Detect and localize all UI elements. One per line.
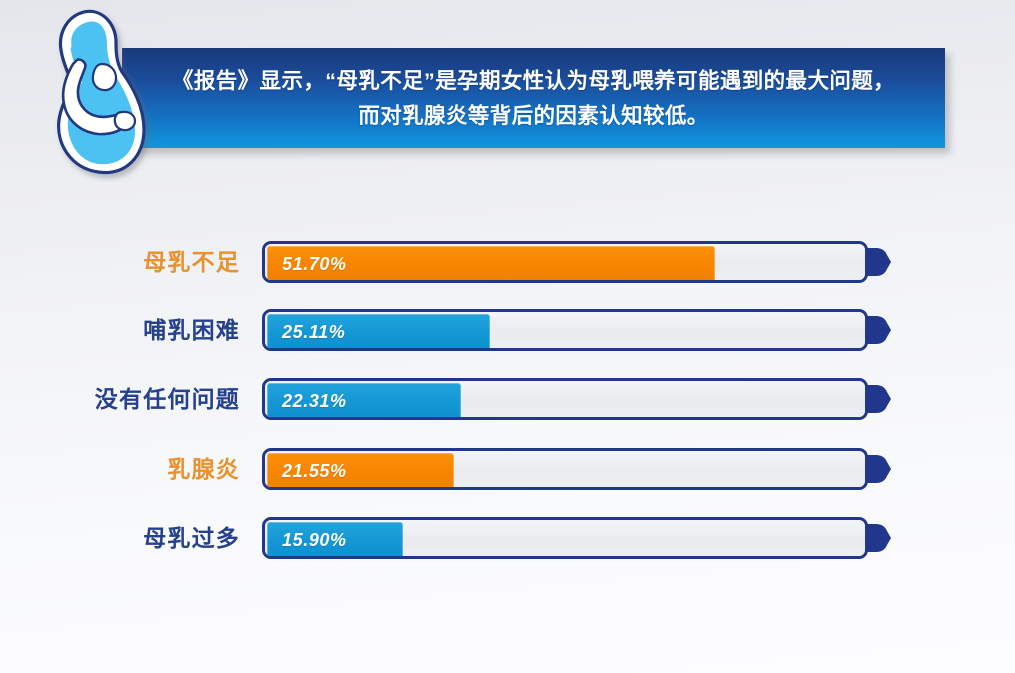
bar-fill-3: 21.55% [267,453,454,489]
bar-track-1: 25.11% [262,309,868,351]
bar-value-2: 22.31% [282,391,347,412]
bar-track-wrap-4: 15.90% [262,517,886,559]
bar-track-wrap-2: 22.31% [262,378,886,420]
bar-track-2: 22.31% [262,378,868,420]
bar-track-wrap-3: 21.55% [262,448,886,490]
headline-line-1: 《报告》显示，“母乳不足”是孕期女性认为母乳喂养可能遇到的最大问题， [172,64,895,99]
bar-value-3: 21.55% [282,461,347,482]
bar-label-0: 母乳不足 [60,239,240,285]
bar-track-wrap-1: 25.11% [262,309,886,351]
bar-fill-1: 25.11% [267,314,490,350]
bar-fill-4: 15.90% [267,522,403,558]
bar-label-4: 母乳过多 [60,515,240,561]
bar-label-1: 哺乳困难 [60,307,240,353]
bar-label-2: 没有任何问题 [60,376,240,422]
table-row: 哺乳困难 25.11% [0,307,1015,353]
header-region: 《报告》显示，“母乳不足”是孕期女性认为母乳喂养可能遇到的最大问题， 而对乳腺炎… [0,0,1015,200]
bar-label-3: 乳腺炎 [60,446,240,492]
table-row: 乳腺炎 21.55% [0,446,1015,492]
infographic-stage: 《报告》显示，“母乳不足”是孕期女性认为母乳喂养可能遇到的最大问题， 而对乳腺炎… [0,0,1015,673]
bar-track-4: 15.90% [262,517,868,559]
bar-track-0: 51.70% [262,241,868,283]
table-row: 母乳过多 15.90% [0,515,1015,561]
bar-value-0: 51.70% [282,254,347,275]
bar-fill-0: 51.70% [267,246,715,282]
table-row: 母乳不足 51.70% [0,239,1015,285]
table-row: 没有任何问题 22.31% [0,376,1015,422]
bar-value-4: 15.90% [282,530,347,551]
headline-banner: 《报告》显示，“母乳不足”是孕期女性认为母乳喂养可能遇到的最大问题， 而对乳腺炎… [122,48,945,148]
bar-chart: 母乳不足 51.70% 哺乳困难 [0,210,1015,590]
pregnant-woman-icon [28,2,160,182]
bar-value-1: 25.11% [282,322,345,343]
headline-line-2: 而对乳腺炎等背后的因素认知较低。 [358,99,708,134]
bar-track-wrap-0: 51.70% [262,241,886,283]
bar-track-3: 21.55% [262,448,868,490]
bar-fill-2: 22.31% [267,383,461,419]
